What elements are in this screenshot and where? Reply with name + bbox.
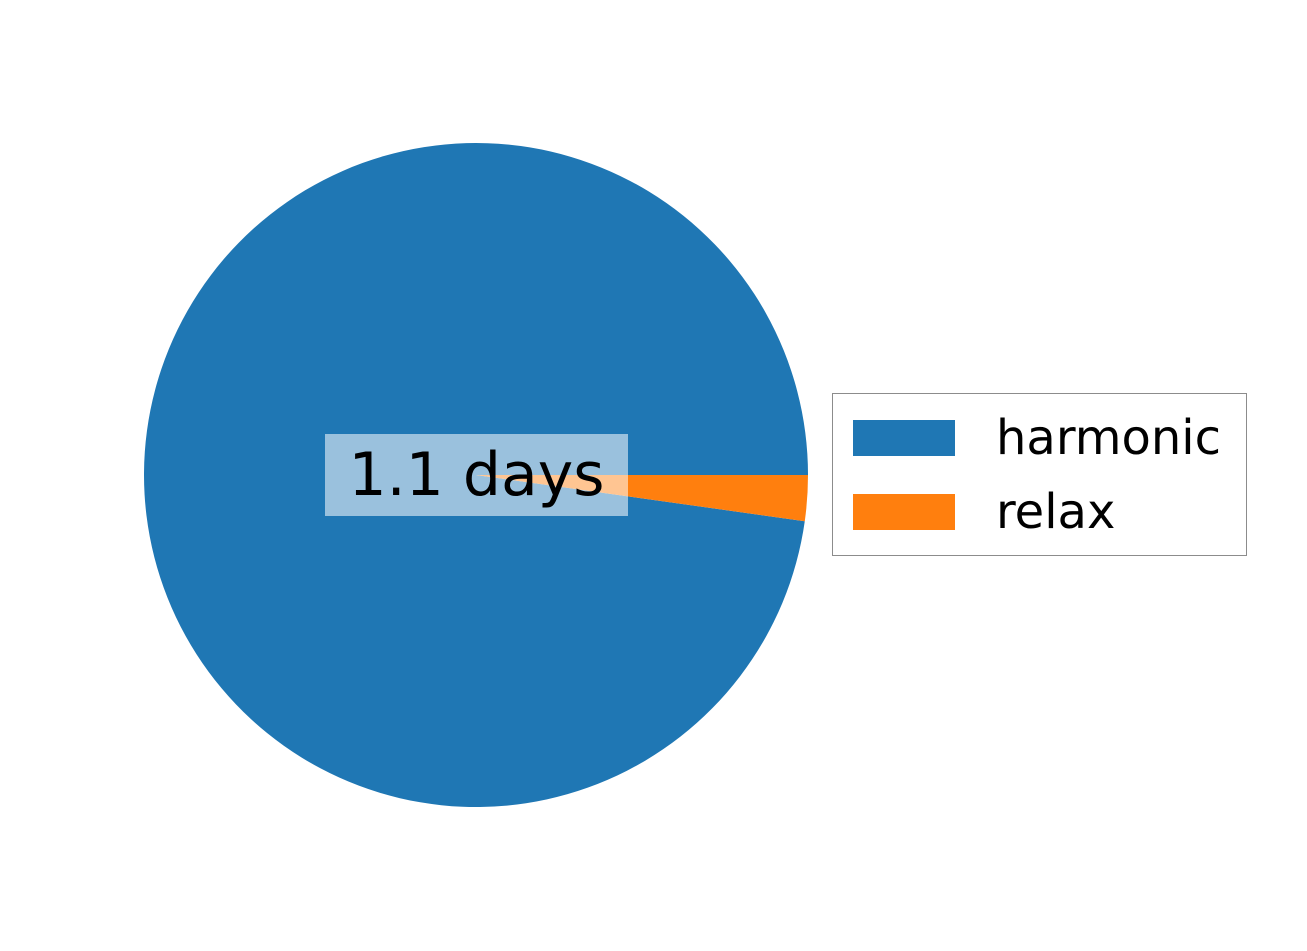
legend-label-harmonic: harmonic [996, 414, 1221, 462]
legend-color-swatch-harmonic [853, 420, 955, 456]
legend-item-relax[interactable]: relax [853, 484, 1115, 540]
legend-label-relax: relax [996, 488, 1115, 536]
legend-item-harmonic[interactable]: harmonic [853, 410, 1221, 466]
legend: harmonic relax [832, 393, 1247, 556]
legend-color-swatch-relax [853, 494, 955, 530]
legend-entries: harmonic relax [833, 394, 1246, 555]
pie-chart-figure: 1.1 days harmonic relax [0, 0, 1307, 951]
